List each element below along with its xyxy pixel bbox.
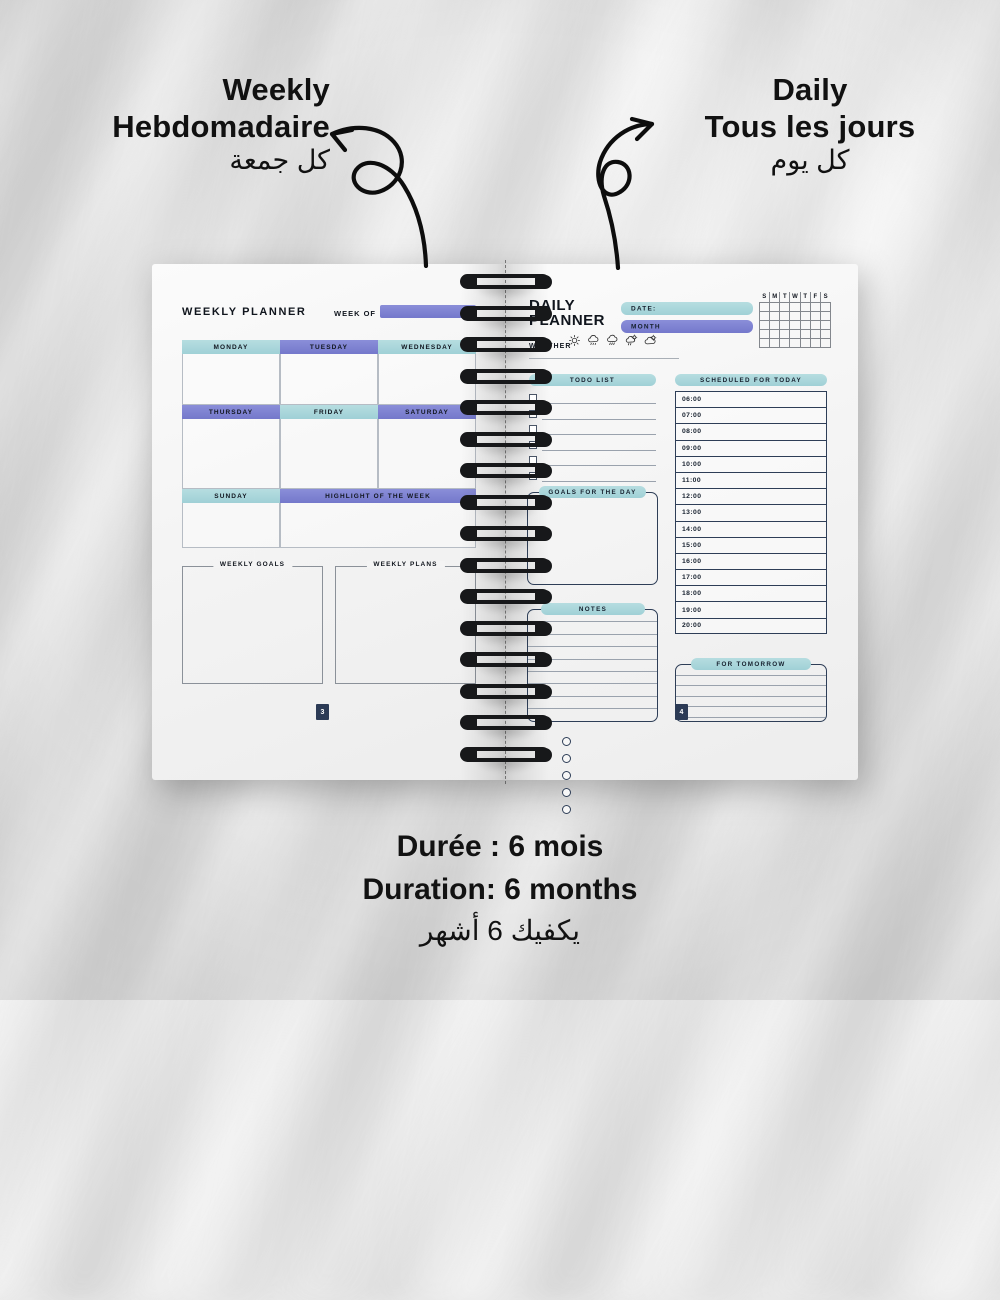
spiral-binding	[460, 264, 552, 780]
day-cell-thursday[interactable]	[182, 419, 280, 489]
goals-checkbox-column[interactable]	[562, 737, 571, 822]
mini-calendar-cell[interactable]	[820, 302, 830, 311]
todo-write-line[interactable]	[542, 450, 656, 451]
mini-calendar-cell[interactable]	[790, 320, 800, 329]
schedule-time-label: 15:00	[682, 542, 701, 549]
schedule-row[interactable]: 18:00	[675, 585, 827, 601]
mini-calendar-cell[interactable]	[800, 311, 810, 320]
spiral-ring	[460, 463, 552, 479]
schedule-time-label: 06:00	[682, 396, 701, 403]
schedule-time-label: 10:00	[682, 461, 701, 468]
spiral-ring	[460, 369, 552, 385]
day-header-sunday[interactable]: SUNDAY	[182, 489, 280, 503]
mini-calendar-cell[interactable]	[820, 320, 830, 329]
schedule-time-label: 07:00	[682, 412, 701, 419]
weekly-planner-title: WEEKLY PLANNER	[182, 306, 306, 318]
todo-write-line[interactable]	[542, 419, 656, 420]
mini-calendar-cell[interactable]	[810, 311, 820, 320]
mini-calendar-cell[interactable]	[760, 338, 770, 347]
spiral-ring	[460, 306, 552, 322]
page-number-left: 3	[316, 704, 329, 720]
weather-icon-row[interactable]	[567, 334, 658, 347]
goal-checkbox[interactable]	[562, 771, 571, 780]
page-number-right: 4	[675, 704, 688, 720]
todo-write-line[interactable]	[542, 481, 656, 482]
mini-calendar-cell[interactable]	[810, 302, 820, 311]
schedule-row[interactable]: 08:00	[675, 423, 827, 439]
duration-caption: Durée : 6 mois Duration: 6 months يكفيك …	[0, 826, 1000, 951]
tomorrow-write-line[interactable]	[676, 707, 826, 718]
mini-calendar-cell[interactable]	[760, 302, 770, 311]
mini-calendar-cell[interactable]	[810, 329, 820, 338]
mini-calendar-row[interactable]	[760, 311, 831, 320]
weekly-planner-page[interactable]: WEEKLY PLANNER WEEK OF MONDAY TUESDAY WE…	[152, 264, 507, 780]
mini-cal-weekday: W	[790, 292, 800, 302]
notes-header: NOTES	[541, 603, 645, 615]
schedule-time-label: 08:00	[682, 428, 701, 435]
mini-calendar-cell[interactable]	[790, 311, 800, 320]
duration-caption-en: Duration: 6 months	[0, 869, 1000, 912]
arrow-left-curved-icon	[322, 118, 432, 268]
mini-calendar-body[interactable]	[760, 302, 831, 347]
open-planner-notebook: WEEKLY PLANNER WEEK OF MONDAY TUESDAY WE…	[152, 264, 858, 780]
schedule-row[interactable]: 17:00	[675, 569, 827, 585]
week-of-label: WEEK OF	[334, 309, 376, 318]
schedule-row[interactable]: 07:00	[675, 407, 827, 423]
annotation-daily-fr: Tous les jours	[660, 109, 960, 146]
date-label: DATE:	[631, 305, 656, 312]
todo-write-line[interactable]	[542, 434, 656, 435]
mini-calendar-cell[interactable]	[790, 302, 800, 311]
spiral-ring	[460, 684, 552, 700]
spiral-ring	[460, 495, 552, 511]
month-field[interactable]: MONTH	[621, 320, 753, 333]
mini-calendar-cell[interactable]	[800, 302, 810, 311]
schedule-row[interactable]: 15:00	[675, 537, 827, 553]
schedule-time-label: 19:00	[682, 607, 701, 614]
daily-planner-page[interactable]: DAILY PLANNER DATE: MONTH WEATHER	[503, 264, 858, 780]
schedule-time-label: 20:00	[682, 622, 701, 629]
annotation-weekly: Weekly Hebdomadaire كل جمعة	[10, 72, 330, 177]
mini-calendar-cell[interactable]	[770, 311, 780, 320]
day-cell-tuesday[interactable]	[280, 354, 378, 405]
mini-calendar-cell[interactable]	[770, 329, 780, 338]
day-header-thursday[interactable]: THURSDAY	[182, 405, 280, 419]
date-field[interactable]: DATE:	[621, 302, 753, 315]
mini-cal-weekday: F	[810, 292, 820, 302]
goals-for-the-day-header: GOALS FOR THE DAY	[539, 486, 646, 498]
tomorrow-write-line[interactable]	[676, 697, 826, 708]
mini-calendar-cell[interactable]	[770, 302, 780, 311]
annotation-weekly-en: Weekly	[10, 72, 330, 109]
mini-calendar-row[interactable]	[760, 302, 831, 311]
day-header-friday[interactable]: FRIDAY	[280, 405, 378, 419]
mini-calendar-row[interactable]	[760, 338, 831, 347]
schedule-row[interactable]: 11:00	[675, 472, 827, 488]
spiral-ring	[460, 400, 552, 416]
day-header-monday[interactable]: MONDAY	[182, 340, 280, 354]
mini-cal-weekday: T	[780, 292, 790, 302]
sun-icon[interactable]	[567, 334, 582, 347]
highlight-of-week-cell[interactable]	[280, 503, 476, 548]
mini-calendar-cell[interactable]	[760, 311, 770, 320]
mini-calendar-cell[interactable]	[780, 320, 790, 329]
mini-calendar-header-row: S M T W T F S	[760, 292, 831, 302]
spiral-ring	[460, 652, 552, 668]
mini-calendar-cell[interactable]	[800, 338, 810, 347]
goal-checkbox[interactable]	[562, 737, 571, 746]
sun-shower-icon[interactable]	[624, 334, 639, 347]
mini-calendar-row[interactable]	[760, 320, 831, 329]
day-cell-sunday[interactable]	[182, 503, 280, 548]
partly-cloudy-icon[interactable]	[643, 334, 658, 347]
mini-calendar-cell[interactable]	[820, 338, 830, 347]
mini-calendar-cell[interactable]	[810, 320, 820, 329]
schedule-row[interactable]: 06:00	[675, 391, 827, 407]
weekly-day-grid: MONDAY TUESDAY WEDNESDAY THURSDAY FRIDAY…	[182, 340, 476, 548]
todo-write-line[interactable]	[542, 465, 656, 466]
weekly-goals-box[interactable]: WEEKLY GOALS	[182, 566, 323, 684]
spiral-ring	[460, 621, 552, 637]
spiral-ring	[460, 432, 552, 448]
schedule-row[interactable]: 10:00	[675, 456, 827, 472]
schedule-row[interactable]: 20:00	[675, 618, 827, 634]
spiral-ring	[460, 337, 552, 353]
weekly-plans-box[interactable]: WEEKLY PLANS	[335, 566, 476, 684]
goal-checkbox[interactable]	[562, 788, 571, 797]
cloud-rain-icon[interactable]	[605, 334, 620, 347]
schedule-row[interactable]: 12:00	[675, 488, 827, 504]
schedule-row[interactable]: 13:00	[675, 504, 827, 520]
schedule-row[interactable]: 14:00	[675, 521, 827, 537]
mini-calendar-cell[interactable]	[780, 311, 790, 320]
goal-checkbox[interactable]	[562, 805, 571, 814]
mini-calendar-cell[interactable]	[760, 320, 770, 329]
highlight-of-week-header[interactable]: HIGHLIGHT OF THE WEEK	[280, 489, 476, 503]
for-tomorrow-box[interactable]	[675, 664, 827, 722]
weekly-plans-label: WEEKLY PLANS	[366, 561, 444, 568]
for-tomorrow-header: FOR TOMORROW	[691, 658, 811, 670]
spiral-ring	[460, 747, 552, 763]
spiral-ring	[460, 274, 552, 290]
cloud-drizzle-icon[interactable]	[586, 334, 601, 347]
mini-calendar-table[interactable]: S M T W T F S	[759, 292, 831, 348]
annotation-daily-en: Daily	[660, 72, 960, 109]
mini-calendar-cell[interactable]	[760, 329, 770, 338]
schedule-time-label: 13:00	[682, 509, 701, 516]
duration-caption-fr: Durée : 6 mois	[0, 826, 1000, 869]
tomorrow-write-line[interactable]	[676, 686, 826, 697]
mini-calendar-cell[interactable]	[800, 329, 810, 338]
schedule-list[interactable]: 06:0007:0008:0009:0010:0011:0012:0013:00…	[675, 391, 827, 634]
mini-calendar-cell[interactable]	[770, 320, 780, 329]
schedule-time-label: 14:00	[682, 526, 701, 533]
mini-calendar-cell[interactable]	[800, 320, 810, 329]
mini-calendar-cell[interactable]	[780, 338, 790, 347]
mini-cal-weekday: S	[820, 292, 830, 302]
day-cell-monday[interactable]	[182, 354, 280, 405]
spiral-ring	[460, 526, 552, 542]
mini-cal-weekday: T	[800, 292, 810, 302]
duration-caption-ar: يكفيك 6 أشهر	[0, 911, 1000, 951]
mini-calendar-cell[interactable]	[780, 302, 790, 311]
tomorrow-write-line[interactable]	[676, 676, 826, 687]
spiral-ring	[460, 558, 552, 574]
mini-cal-weekday: S	[760, 292, 770, 302]
spiral-ring	[460, 715, 552, 731]
mini-calendar-cell[interactable]	[810, 338, 820, 347]
schedule-row[interactable]: 16:00	[675, 553, 827, 569]
schedule-time-label: 11:00	[682, 477, 701, 484]
spiral-ring	[460, 589, 552, 605]
schedule-time-label: 09:00	[682, 445, 701, 452]
day-header-tuesday[interactable]: TUESDAY	[280, 340, 378, 354]
month-label: MONTH	[631, 323, 661, 330]
goal-checkbox[interactable]	[562, 754, 571, 763]
annotation-weekly-fr: Hebdomadaire	[10, 109, 330, 146]
mini-calendar[interactable]: S M T W T F S	[759, 292, 831, 348]
mini-cal-weekday: M	[770, 292, 780, 302]
mini-calendar-row[interactable]	[760, 329, 831, 338]
schedule-row[interactable]: 09:00	[675, 440, 827, 456]
schedule-time-label: 12:00	[682, 493, 701, 500]
arrow-right-curved-icon	[586, 110, 696, 270]
mini-calendar-cell[interactable]	[770, 338, 780, 347]
mini-calendar-cell[interactable]	[790, 338, 800, 347]
annotation-daily-ar: كل يوم	[660, 145, 960, 177]
weekly-goals-label: WEEKLY GOALS	[213, 561, 292, 568]
annotation-weekly-ar: كل جمعة	[10, 145, 330, 177]
schedule-header: SCHEDULED FOR TODAY	[675, 374, 827, 386]
schedule-time-label: 18:00	[682, 590, 701, 597]
schedule-row[interactable]: 19:00	[675, 601, 827, 617]
mini-calendar-cell[interactable]	[820, 329, 830, 338]
schedule-time-label: 16:00	[682, 558, 701, 565]
mini-calendar-cell[interactable]	[790, 329, 800, 338]
mini-calendar-cell[interactable]	[820, 311, 830, 320]
schedule-time-label: 17:00	[682, 574, 701, 581]
annotation-daily: Daily Tous les jours كل يوم	[660, 72, 960, 177]
mini-calendar-cell[interactable]	[780, 329, 790, 338]
todo-write-line[interactable]	[542, 403, 656, 404]
day-cell-friday[interactable]	[280, 419, 378, 489]
